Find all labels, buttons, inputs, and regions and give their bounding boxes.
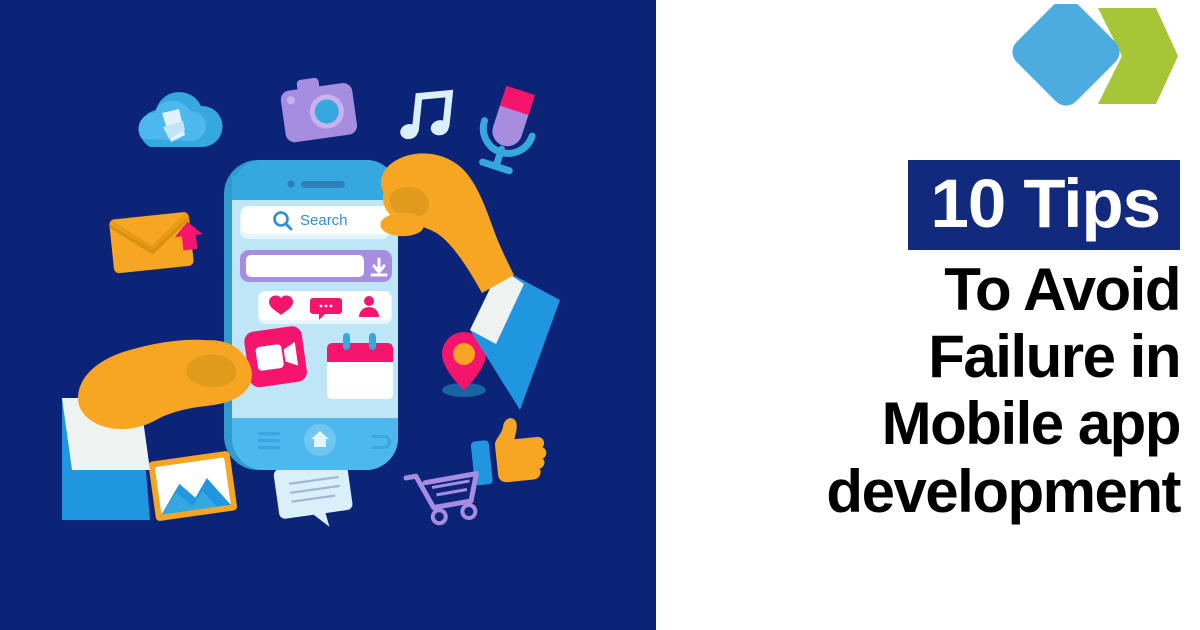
- phone-search-label: Search: [300, 212, 348, 229]
- phone-search-field[interactable]: Search: [240, 206, 390, 239]
- headline-line-2: Failure in: [680, 323, 1180, 390]
- phone-camera-dot: [287, 180, 294, 187]
- phone-speaker-slot: [301, 181, 345, 188]
- photo-gallery-icon: [148, 451, 238, 522]
- poster-canvas: Search: [0, 0, 1200, 630]
- headline-line-3: Mobile app: [680, 390, 1180, 457]
- headline-line-4: development: [680, 458, 1180, 525]
- content-panel: 10 Tips To Avoid Failure in Mobile app d…: [656, 0, 1200, 630]
- tips-badge: 10 Tips: [908, 160, 1180, 250]
- brand-diamond-chevron-logo[interactable]: [1006, 4, 1178, 108]
- headline-line-1: To Avoid: [680, 256, 1180, 323]
- illustration-panel: Search: [0, 0, 656, 630]
- menu-icon[interactable]: [258, 432, 280, 449]
- video-camera-icon[interactable]: [243, 325, 308, 389]
- phone-download-bar[interactable]: [240, 250, 392, 282]
- home-icon[interactable]: [304, 424, 336, 456]
- mobile-app-illustration: Search: [0, 0, 656, 630]
- smartphone-mockup: Search: [224, 160, 398, 470]
- page-title: To Avoid Failure in Mobile app developme…: [680, 256, 1180, 525]
- phone-quick-icons-row[interactable]: [258, 291, 392, 324]
- headline-block: 10 Tips To Avoid Failure in Mobile app d…: [680, 160, 1180, 525]
- phone-nav-bar[interactable]: [232, 418, 398, 470]
